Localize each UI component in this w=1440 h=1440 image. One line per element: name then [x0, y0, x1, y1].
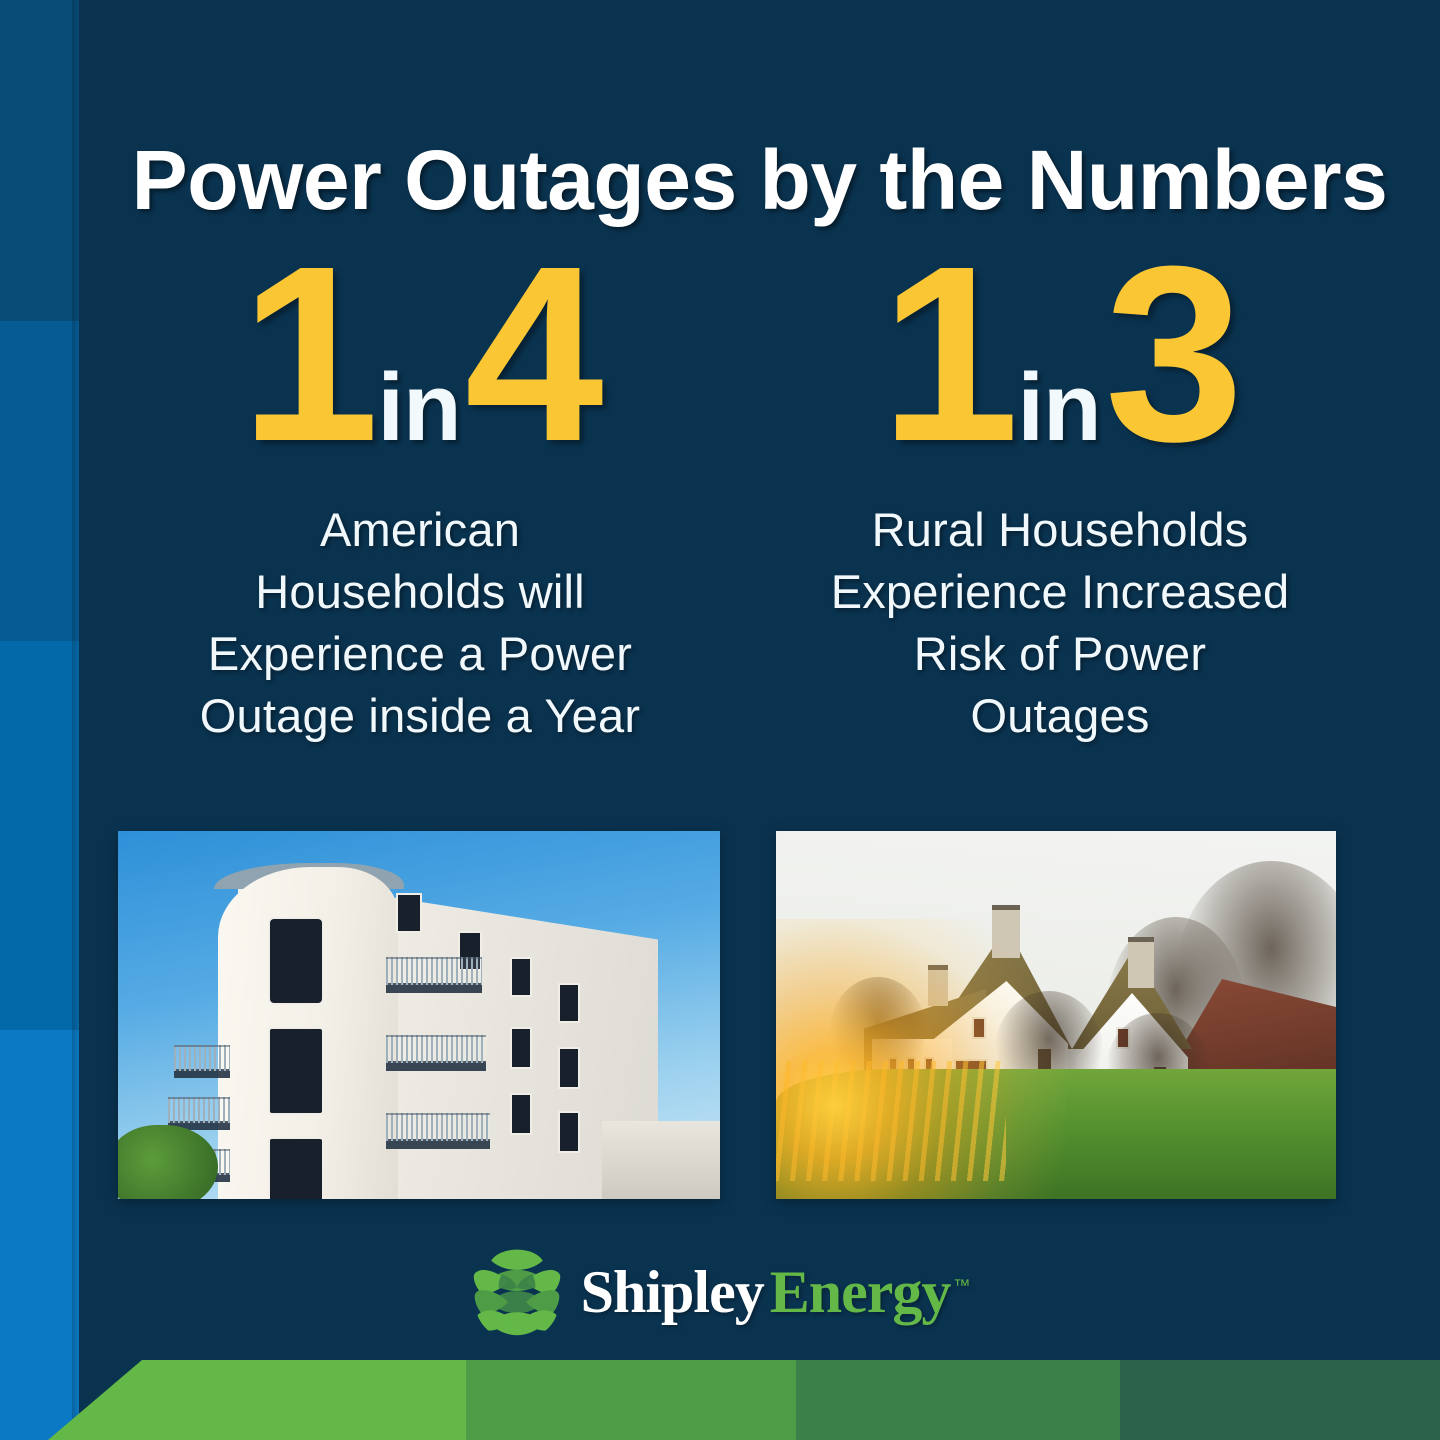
accent-band-2 [0, 321, 79, 641]
accent-band-3 [0, 641, 79, 1030]
stat-caption-2-line-3: Risk of Power [914, 627, 1207, 680]
stat-figure-2-connector: in [1017, 354, 1100, 461]
photo-window [558, 1047, 580, 1089]
photo-chimney [992, 905, 1020, 958]
stat-figure-1-connector: in [377, 354, 460, 461]
stat-figure-2-denominator: 3 [1105, 214, 1240, 493]
photo-grass-field [776, 1069, 1336, 1199]
photo-window [558, 983, 580, 1023]
photo-balcony-railing [386, 1113, 490, 1141]
stat-figure-2-numerator: 1 [880, 214, 1015, 493]
infographic-canvas: Power Outages by the Numbers 1in4 Americ… [0, 0, 1440, 1440]
stat-caption-2-line-4: Outages [970, 689, 1149, 742]
brand-wordmark: ShipleyEnergy™ [581, 1262, 970, 1322]
brand-logo: ShipleyEnergy™ [0, 1246, 1440, 1338]
photo-window [510, 1027, 532, 1069]
page-title: Power Outages by the Numbers [79, 138, 1440, 222]
stat-caption-2-line-2: Experience Increased [831, 565, 1290, 618]
stat-caption-2-line-1: Rural Households [872, 503, 1249, 556]
photo-window [558, 1111, 580, 1153]
stat-block-1: 1in4 American Households will Experience… [100, 235, 740, 747]
bottom-accent-bands [0, 1360, 1440, 1440]
photo-rural-farmhouse [776, 831, 1336, 1199]
stat-caption-1-line-2: Households will [255, 565, 585, 618]
stat-caption-1-line-1: American [320, 503, 520, 556]
stat-caption-1-line-4: Outage inside a Year [200, 689, 640, 742]
photo-balcony-railing [386, 1035, 486, 1063]
photo-balcony-railing [168, 1097, 230, 1123]
accent-band-1 [0, 0, 79, 321]
photo-chimney [928, 965, 948, 1006]
left-accent-strip [0, 0, 79, 1440]
photo-window [396, 893, 422, 933]
brand-word-energy: Energy [770, 1259, 951, 1325]
stat-block-2: 1in3 Rural Households Experience Increas… [740, 235, 1380, 747]
stat-figure-1-denominator: 4 [465, 214, 600, 493]
photo-window [510, 1093, 532, 1135]
accent-band-4 [0, 1030, 79, 1440]
bottom-band-3 [796, 1360, 1120, 1440]
photo-chimney [1128, 937, 1154, 988]
stat-caption-1: American Households will Experience a Po… [100, 499, 740, 747]
stat-caption-1-line-3: Experience a Power [208, 627, 632, 680]
stat-caption-2: Rural Households Experience Increased Ri… [740, 499, 1380, 747]
statistics-row: 1in4 American Households will Experience… [100, 235, 1380, 747]
trademark-symbol: ™ [953, 1276, 969, 1295]
stat-figure-1-numerator: 1 [240, 214, 375, 493]
photo-adjacent-building [602, 1121, 720, 1199]
bottom-band-4 [1120, 1360, 1440, 1440]
photo-balcony-railing [174, 1045, 230, 1071]
photo-house-window [972, 1017, 986, 1039]
photo-window [268, 917, 324, 1005]
photo-window [510, 957, 532, 997]
stat-figure-2: 1in3 [740, 235, 1380, 473]
photo-window [268, 1137, 324, 1199]
photo-apartment-building [118, 831, 720, 1199]
photo-balcony-railing [386, 957, 482, 985]
shipley-woven-sphere-logo-icon [471, 1246, 563, 1338]
stat-figure-1: 1in4 [100, 235, 740, 473]
brand-word-shipley: Shipley [581, 1259, 764, 1325]
bottom-band-2 [466, 1360, 796, 1440]
photo-window [268, 1027, 324, 1115]
